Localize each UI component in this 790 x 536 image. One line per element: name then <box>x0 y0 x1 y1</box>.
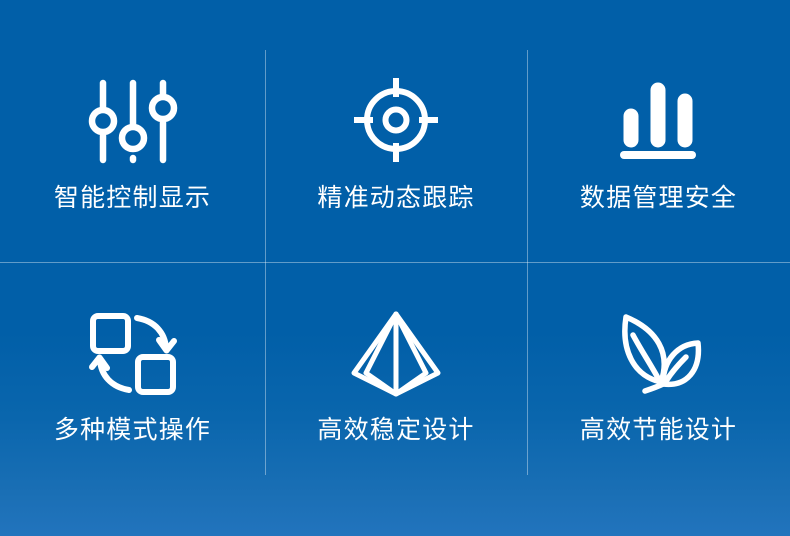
feature-cell-data-management-security[interactable]: 数据管理安全 <box>527 0 790 262</box>
feature-label: 数据管理安全 <box>580 186 737 211</box>
feature-label: 高效节能设计 <box>580 418 737 443</box>
feature-cell-multiple-mode-operation[interactable]: 多种模式操作 <box>0 262 265 487</box>
pyramid-icon <box>346 308 446 400</box>
feature-cell-precise-dynamic-tracking[interactable]: 精准动态跟踪 <box>265 0 527 262</box>
feature-label: 多种模式操作 <box>54 418 211 443</box>
leaves-icon <box>609 308 709 400</box>
feature-grid: 智能控制显示 精准动态跟踪 <box>0 0 790 536</box>
bar-chart-icon <box>609 70 709 170</box>
feature-label: 精准动态跟踪 <box>317 186 474 211</box>
feature-cell-efficient-energy-saving-design[interactable]: 高效节能设计 <box>527 262 790 487</box>
sliders-icon <box>83 70 183 170</box>
target-icon <box>346 70 446 170</box>
feature-highlight-banner: 智能控制显示 精准动态跟踪 <box>0 0 790 536</box>
feature-label: 智能控制显示 <box>54 186 211 211</box>
swap-squares-icon <box>83 308 183 400</box>
feature-label: 高效稳定设计 <box>317 418 474 443</box>
feature-cell-smart-control-display[interactable]: 智能控制显示 <box>0 0 265 262</box>
feature-cell-efficient-stable-design[interactable]: 高效稳定设计 <box>265 262 527 487</box>
